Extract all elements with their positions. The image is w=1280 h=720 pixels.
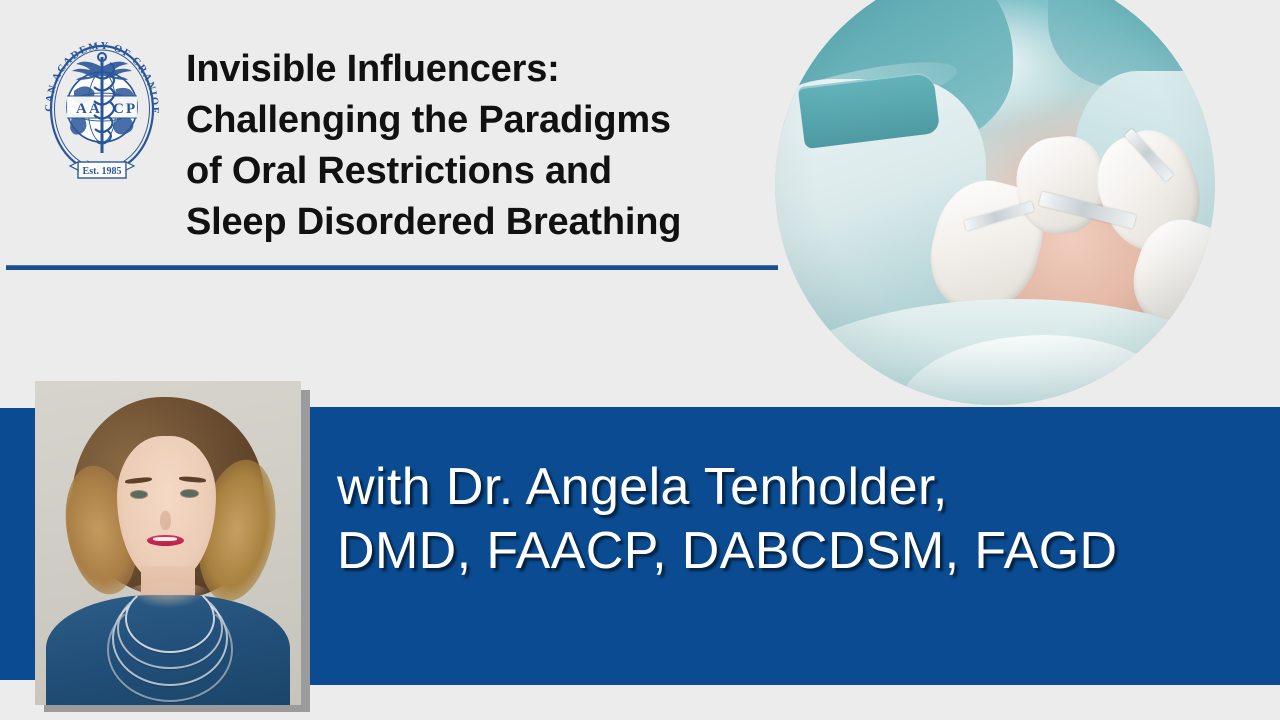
speaker-credit: with Dr. Angela Tenholder, DMD, FAACP, D… <box>337 455 1237 583</box>
logo-letter-p: P <box>126 101 135 117</box>
logo-established-text: Est. 1985 <box>83 166 122 177</box>
title-line-4: Sleep Disordered Breathing <box>186 197 786 248</box>
presentation-title-slide: AMERICAN ACADEMY OF CRANIOFACIAL PAIN A … <box>0 0 1280 720</box>
title-line-2: Challenging the Paradigms <box>186 95 786 146</box>
headshot-teeth <box>153 537 177 541</box>
headshot-eye-right <box>181 490 197 497</box>
page-title: Invisible Influencers: Challenging the P… <box>186 44 786 248</box>
title-divider-rule <box>6 265 778 270</box>
speaker-credentials-line: DMD, FAACP, DABCDSM, FAGD <box>337 519 1237 583</box>
speaker-name-line: with Dr. Angela Tenholder, <box>337 455 1237 519</box>
headshot-nose <box>160 511 171 530</box>
headshot-necklace-strand <box>107 597 233 701</box>
title-line-1: Invisible Influencers: <box>186 44 786 95</box>
speaker-headshot <box>35 381 301 705</box>
aacp-seal-logo: AMERICAN ACADEMY OF CRANIOFACIAL PAIN A … <box>38 33 166 185</box>
photo-vignette <box>775 0 1215 405</box>
logo-letter-a1: A <box>76 101 87 117</box>
title-line-3: of Oral Restrictions and <box>186 146 786 197</box>
oral-surgery-circular-photo <box>775 0 1215 405</box>
